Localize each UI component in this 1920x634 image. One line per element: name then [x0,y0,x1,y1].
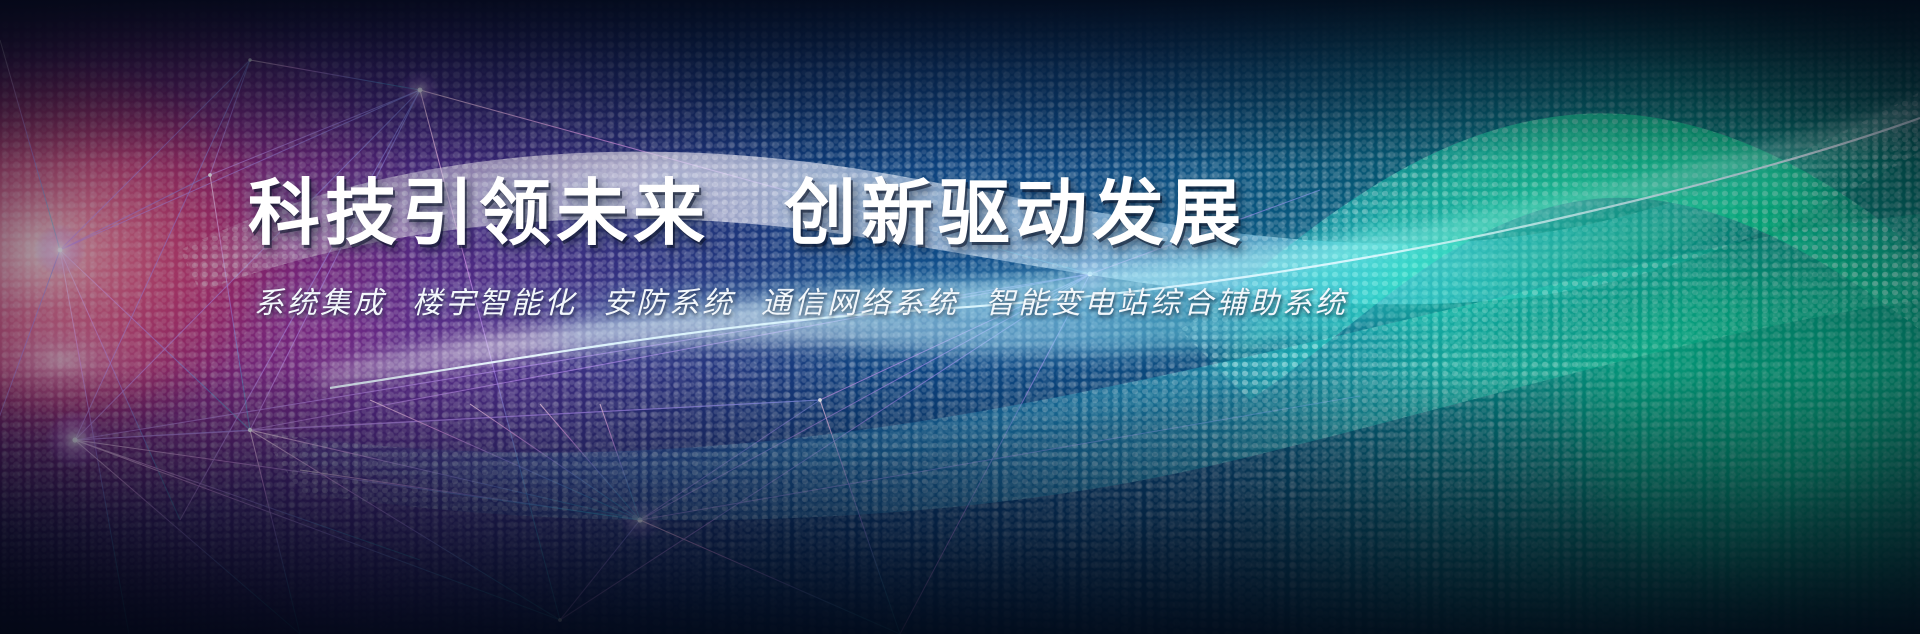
subtitle-item-3: 安防系统 [603,287,735,320]
left-glow [0,50,270,450]
subtitle-item-5: 智能变电站综合辅助系统 [985,287,1348,320]
subtitle-item-2: 楼宇智能化 [412,287,577,320]
tech-hero-banner: 科技引领未来创新驱动发展 系统集成楼宇智能化安防系统通信网络系统智能变电站综合辅… [0,0,1920,634]
page-title: 科技引领未来创新驱动发展 [248,178,1578,250]
subtitle-item-1: 系统集成 [254,287,386,320]
headline-segment-1: 科技引领未来 [248,174,710,254]
hero-text-block: 科技引领未来创新驱动发展 系统集成楼宇智能化安防系统通信网络系统智能变电站综合辅… [248,178,1578,322]
hero-subtitle: 系统集成楼宇智能化安防系统通信网络系统智能变电站综合辅助系统 [254,278,1578,322]
subtitle-item-4: 通信网络系统 [761,287,959,320]
network-node-dots [58,58,1093,622]
network-mesh [0,40,1360,634]
headline-segment-2: 创新驱动发展 [784,174,1246,254]
